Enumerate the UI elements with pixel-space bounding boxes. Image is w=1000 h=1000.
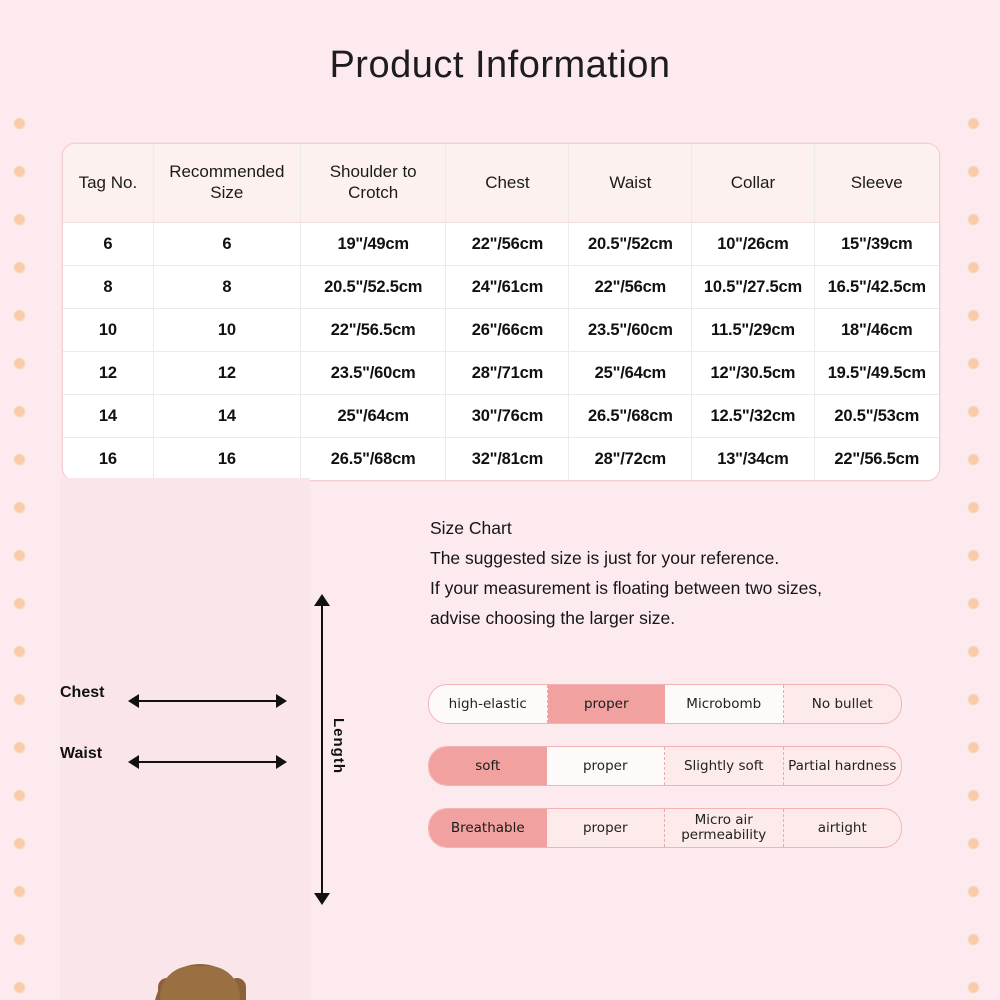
note-line-4: advise choosing the larger size.	[430, 603, 920, 633]
table-cell: 22"/56cm	[446, 223, 569, 266]
table-cell: 25"/64cm	[569, 352, 692, 395]
table-row: 161626.5"/68cm32"/81cm28"/72cm13"/34cm22…	[63, 438, 939, 481]
length-measure-line	[321, 604, 323, 896]
decorative-dot	[968, 118, 979, 129]
decorative-dot	[968, 598, 979, 609]
decorative-dot	[14, 790, 25, 801]
decorative-dot	[968, 790, 979, 801]
table-cell: 10	[63, 309, 153, 352]
table-cell: 12.5"/32cm	[692, 395, 814, 438]
property-segment[interactable]: No bullet	[784, 685, 902, 723]
decorative-dot	[14, 742, 25, 753]
note-line-2: The suggested size is just for your refe…	[430, 543, 920, 573]
decorative-dot	[968, 406, 979, 417]
decorative-dot	[14, 886, 25, 897]
length-measure-arrow-top	[314, 594, 330, 606]
table-cell: 19.5"/49.5cm	[814, 352, 939, 395]
table-row: 141425"/64cm30"/76cm26.5"/68cm12.5"/32cm…	[63, 395, 939, 438]
length-measure-arrow-bottom	[314, 893, 330, 905]
table-cell: 26.5"/68cm	[300, 438, 446, 481]
decorative-dot	[968, 262, 979, 273]
decorative-dot	[968, 502, 979, 513]
decorative-dot	[968, 214, 979, 225]
table-cell: 6	[63, 223, 153, 266]
property-segment[interactable]: soft	[429, 747, 547, 785]
property-segment[interactable]: proper	[547, 747, 666, 785]
table-cell: 11.5"/29cm	[692, 309, 814, 352]
property-segment[interactable]: proper	[548, 685, 666, 723]
decorative-dot	[968, 646, 979, 657]
chest-measure-arrow-right	[276, 694, 287, 708]
table-header-cell: Recommended Size	[153, 144, 300, 223]
table-cell: 8	[63, 266, 153, 309]
property-segment[interactable]: Partial hardness	[784, 747, 902, 785]
photo-background	[60, 478, 310, 1000]
decorative-dot	[14, 694, 25, 705]
table-cell: 20.5"/52.5cm	[300, 266, 446, 309]
decorative-dot	[14, 646, 25, 657]
waist-measure-arrow-right	[276, 755, 287, 769]
table-row: 6619"/49cm22"/56cm20.5"/52cm10"/26cm15"/…	[63, 223, 939, 266]
table-cell: 20.5"/52cm	[569, 223, 692, 266]
property-segment[interactable]: Breathable	[429, 809, 547, 847]
waist-measure-label: Waist	[60, 745, 102, 763]
decorative-dot	[14, 502, 25, 513]
table-cell: 22"/56.5cm	[300, 309, 446, 352]
table-cell: 23.5"/60cm	[569, 309, 692, 352]
decorative-dot	[14, 598, 25, 609]
decorative-dot	[968, 742, 979, 753]
table-header-cell: Tag No.	[63, 144, 153, 223]
decorative-dot	[14, 262, 25, 273]
page-title: Product Information	[0, 44, 1000, 87]
table-cell: 25"/64cm	[300, 395, 446, 438]
property-bar-elasticity: high-elasticproperMicrobombNo bullet	[428, 684, 902, 724]
property-segment[interactable]: high-elastic	[429, 685, 548, 723]
model-photo	[60, 478, 310, 1000]
table-cell: 6	[153, 223, 300, 266]
property-segment[interactable]: Slightly soft	[665, 747, 784, 785]
table-cell: 10	[153, 309, 300, 352]
table-cell: 10"/26cm	[692, 223, 814, 266]
table-cell: 8	[153, 266, 300, 309]
table-cell: 23.5"/60cm	[300, 352, 446, 395]
table-cell: 30"/76cm	[446, 395, 569, 438]
size-chart-note: Size Chart The suggested size is just fo…	[430, 513, 920, 633]
table-cell: 13"/34cm	[692, 438, 814, 481]
property-segment[interactable]: proper	[547, 809, 666, 847]
table-cell: 12"/30.5cm	[692, 352, 814, 395]
decorative-dot	[968, 358, 979, 369]
table-cell: 16	[63, 438, 153, 481]
table-header-cell: Sleeve	[814, 144, 939, 223]
table-header-row: Tag No.Recommended SizeShoulder to Crotc…	[63, 144, 939, 223]
decorative-dot	[14, 454, 25, 465]
table-row: 101022"/56.5cm26"/66cm23.5"/60cm11.5"/29…	[63, 309, 939, 352]
table-cell: 32"/81cm	[446, 438, 569, 481]
table-header-cell: Chest	[446, 144, 569, 223]
table-header-cell: Shoulder to Crotch	[300, 144, 446, 223]
table-cell: 14	[153, 395, 300, 438]
table-cell: 16.5"/42.5cm	[814, 266, 939, 309]
decorative-dot	[968, 886, 979, 897]
property-segment[interactable]: Micro air permeability	[665, 809, 784, 847]
decorative-dot	[14, 118, 25, 129]
decorative-dot	[968, 310, 979, 321]
table-cell: 10.5"/27.5cm	[692, 266, 814, 309]
property-segment[interactable]: Microbomb	[665, 685, 784, 723]
decorative-dot	[968, 838, 979, 849]
table-cell: 28"/71cm	[446, 352, 569, 395]
table-cell: 24"/61cm	[446, 266, 569, 309]
note-line-3: If your measurement is floating between …	[430, 573, 920, 603]
size-table-container: Tag No.Recommended SizeShoulder to Crotc…	[62, 143, 940, 481]
table-cell: 19"/49cm	[300, 223, 446, 266]
table-cell: 22"/56.5cm	[814, 438, 939, 481]
chest-measure-arrow-left	[128, 694, 139, 708]
decorative-dot	[14, 838, 25, 849]
property-segment[interactable]: airtight	[784, 809, 902, 847]
table-cell: 28"/72cm	[569, 438, 692, 481]
property-bar-breathability: BreathableproperMicro air permeabilityai…	[428, 808, 902, 848]
decorative-dot	[968, 694, 979, 705]
table-row: 121223.5"/60cm28"/71cm25"/64cm12"/30.5cm…	[63, 352, 939, 395]
decorative-dot	[14, 550, 25, 561]
length-measure-label: Length	[330, 718, 347, 774]
decorative-dot	[14, 358, 25, 369]
decorative-dot	[968, 934, 979, 945]
size-table-body: 6619"/49cm22"/56cm20.5"/52cm10"/26cm15"/…	[63, 223, 939, 481]
decorative-dot	[14, 310, 25, 321]
decorative-dot	[14, 982, 25, 993]
decorative-dots-right	[968, 0, 988, 1000]
table-cell: 18"/46cm	[814, 309, 939, 352]
decorative-dot	[968, 454, 979, 465]
table-cell: 16	[153, 438, 300, 481]
size-table-head: Tag No.Recommended SizeShoulder to Crotc…	[63, 144, 939, 223]
table-cell: 12	[63, 352, 153, 395]
table-cell: 15"/39cm	[814, 223, 939, 266]
decorative-dot	[968, 166, 979, 177]
table-cell: 22"/56cm	[569, 266, 692, 309]
table-cell: 12	[153, 352, 300, 395]
decorative-dot	[14, 214, 25, 225]
chest-measure-label: Chest	[60, 684, 104, 702]
table-header-cell: Collar	[692, 144, 814, 223]
decorative-dot	[14, 166, 25, 177]
waist-measure-arrow-left	[128, 755, 139, 769]
table-cell: 26.5"/68cm	[569, 395, 692, 438]
decorative-dot	[14, 934, 25, 945]
waist-measure-line	[130, 761, 285, 763]
decorative-dot	[968, 550, 979, 561]
table-row: 8820.5"/52.5cm24"/61cm22"/56cm10.5"/27.5…	[63, 266, 939, 309]
decorative-dot	[14, 406, 25, 417]
property-bars: high-elasticproperMicrobombNo bulletsoft…	[428, 684, 902, 870]
chest-measure-line	[130, 700, 285, 702]
property-bar-softness: softproperSlightly softPartial hardness	[428, 746, 902, 786]
table-cell: 26"/66cm	[446, 309, 569, 352]
note-line-1: Size Chart	[430, 513, 920, 543]
size-table: Tag No.Recommended SizeShoulder to Crotc…	[63, 144, 939, 480]
decorative-dots-left	[14, 0, 34, 1000]
table-cell: 14	[63, 395, 153, 438]
decorative-dot	[968, 982, 979, 993]
table-header-cell: Waist	[569, 144, 692, 223]
table-cell: 20.5"/53cm	[814, 395, 939, 438]
